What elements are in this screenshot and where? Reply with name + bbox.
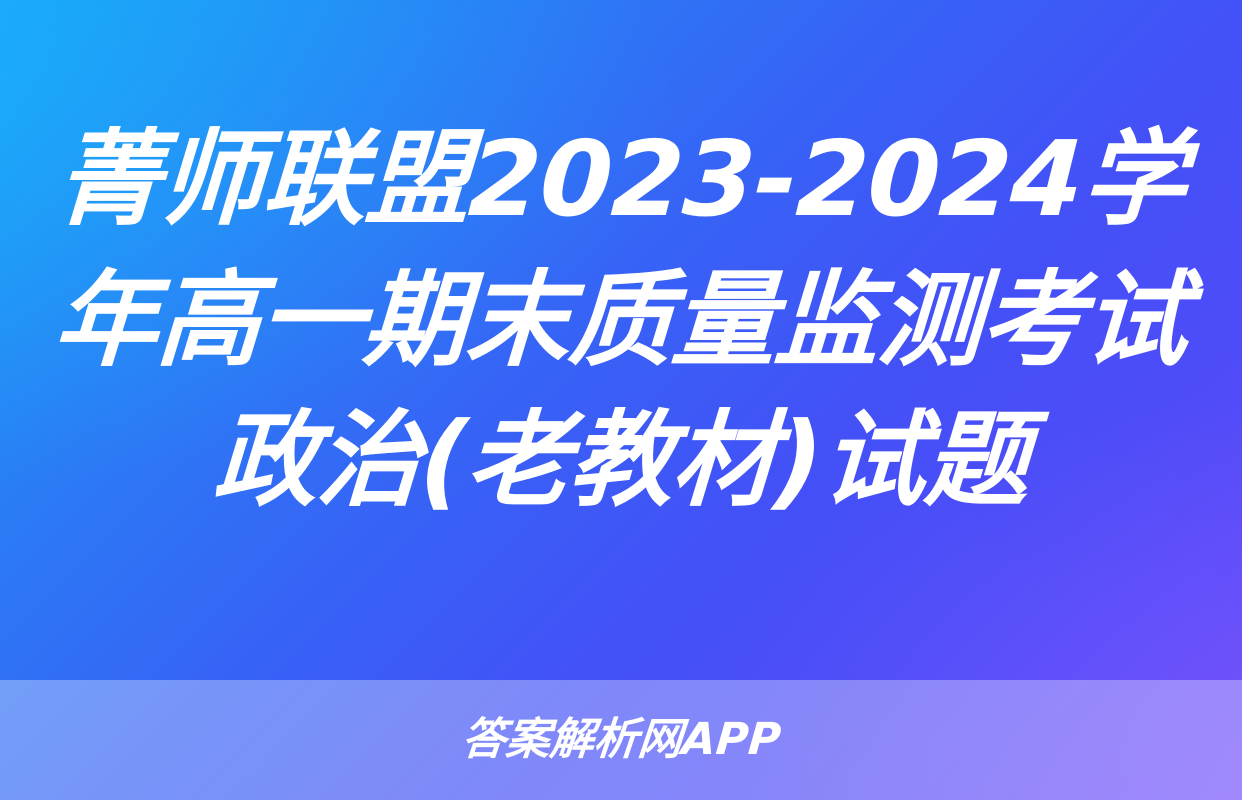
title-line-2: 年高一期末质量监测考试 [51,250,1191,390]
title-line-3: 政治(老教材)试题 [210,390,1031,530]
title-block: 菁师联盟2023-2024学 年高一期末质量监测考试 政治(老教材)试题 [0,0,1242,680]
watermark-label: 答案解析网APP [460,718,782,762]
title-line-1: 菁师联盟2023-2024学 [53,109,1188,249]
watermark-band: 答案解析网APP [0,680,1242,800]
title-card: 菁师联盟2023-2024学 年高一期末质量监测考试 政治(老教材)试题 答案解… [0,0,1242,800]
